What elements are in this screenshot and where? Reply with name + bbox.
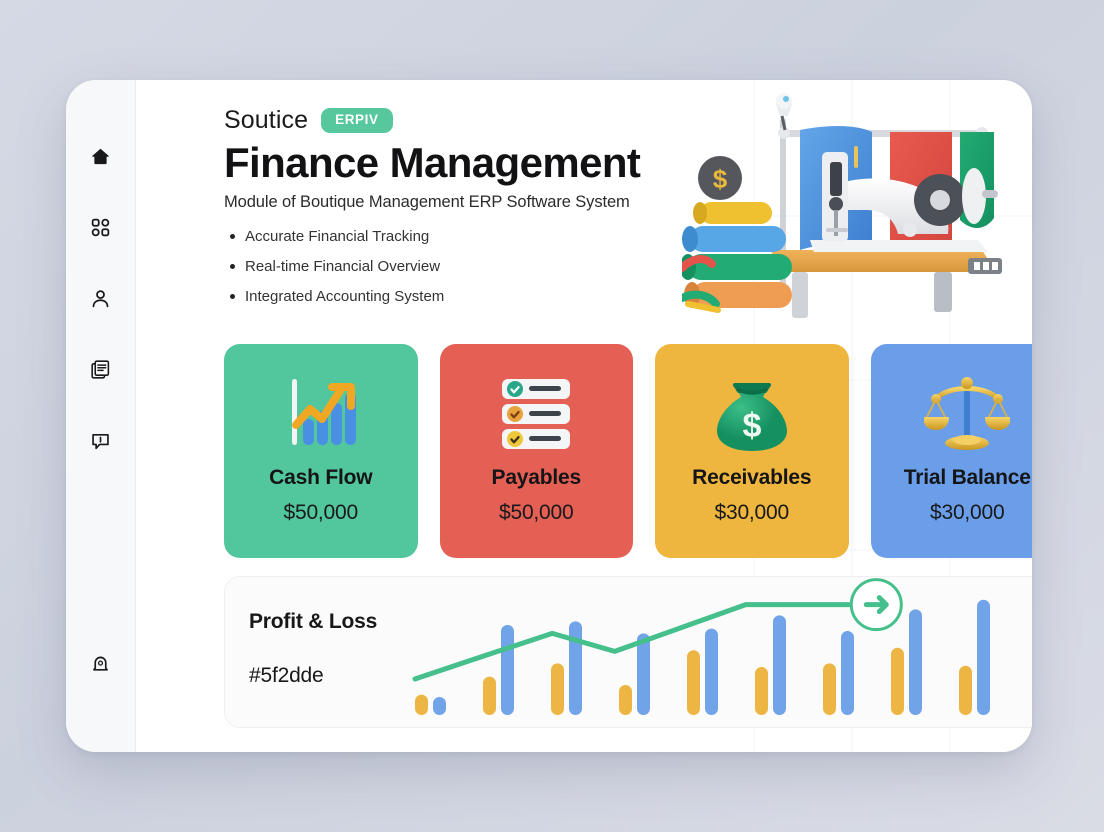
sidebar	[66, 80, 136, 752]
chart-bar-profit-7	[841, 631, 854, 715]
stat-card-value: $50,000	[499, 501, 574, 525]
stat-card-value: $30,000	[930, 501, 1005, 525]
chart-bar-profit-5	[705, 629, 718, 715]
chart-bar-profit-3	[569, 621, 582, 715]
chart-bar-loss-2	[483, 677, 496, 715]
chart-bar-loss-6	[755, 667, 768, 715]
bell-icon	[90, 653, 111, 674]
sidebar-item-profile[interactable]	[81, 278, 121, 318]
balance-scale-icon	[924, 368, 1010, 460]
stat-card-value: $30,000	[714, 501, 789, 525]
brand-row: Soutice ERPIV	[224, 106, 744, 135]
money-bag-icon: $	[713, 368, 791, 460]
stat-card-label: Receivables	[692, 466, 811, 490]
chart-bar-profit-6	[773, 615, 786, 715]
chart-bar-loss-9	[959, 666, 972, 715]
stat-card-value: $50,000	[283, 501, 358, 525]
sidebar-item-documents[interactable]	[81, 349, 121, 389]
profit-loss-chart	[401, 577, 1032, 728]
stat-card-grid: Cash Flow $50,000	[224, 344, 1032, 558]
brand-badge: ERPIV	[321, 108, 393, 133]
app-window: Soutice ERPIV Finance Management Module …	[66, 80, 1032, 752]
chart-bar-profit-1	[433, 697, 446, 715]
chart-bar-loss-3	[551, 663, 564, 715]
chart-bar-profit-4	[637, 633, 650, 715]
chart-bar-loss-1	[415, 695, 428, 715]
chart-bar-loss-4	[619, 685, 632, 715]
profit-loss-panel: Profit & Loss #5f2dde	[224, 576, 1032, 728]
stat-card-payables[interactable]: Payables $50,000	[440, 344, 634, 558]
apps-grid-icon	[90, 217, 111, 238]
main-content: Soutice ERPIV Finance Management Module …	[136, 80, 1032, 752]
sidebar-item-apps[interactable]	[81, 207, 121, 247]
growth-chart-icon	[281, 368, 361, 460]
feature-list: Accurate Financial Tracking Real-time Fi…	[224, 229, 744, 304]
chart-bar-profit-9	[977, 600, 990, 715]
sidebar-item-notifications[interactable]	[81, 643, 121, 683]
home-icon	[90, 146, 111, 167]
chart-bar-loss-5	[687, 650, 700, 715]
user-icon	[90, 288, 111, 309]
sidebar-item-home[interactable]	[81, 136, 121, 176]
stat-card-label: Trial Balance	[904, 466, 1031, 490]
page-header: Soutice ERPIV Finance Management Module …	[224, 106, 744, 319]
sidebar-item-messages[interactable]	[81, 420, 121, 460]
arrow-right-circle-icon[interactable]	[851, 580, 901, 630]
documents-icon	[90, 359, 111, 380]
page-subtitle: Module of Boutique Management ERP Softwa…	[224, 193, 744, 212]
page-title: Finance Management	[224, 139, 744, 186]
svg-text:$: $	[742, 407, 761, 445]
chart-bar-loss-7	[823, 663, 836, 715]
feature-item: Integrated Accounting System	[224, 289, 744, 304]
stat-card-trial-balance[interactable]: Trial Balance $30,000	[871, 344, 1033, 558]
chat-icon	[90, 430, 111, 451]
brand-name: Soutice	[224, 106, 308, 135]
chart-code: #5f2dde	[249, 664, 324, 688]
stat-card-receivables[interactable]: $ Receivables $30,000	[655, 344, 849, 558]
chart-bar-profit-8	[909, 609, 922, 715]
feature-item: Accurate Financial Tracking	[224, 229, 744, 244]
stat-card-label: Payables	[492, 466, 581, 490]
chart-bar-profit-2	[501, 625, 514, 715]
chart-bar-loss-8	[891, 648, 904, 715]
feature-item: Real-time Financial Overview	[224, 259, 744, 274]
chart-title: Profit & Loss	[249, 610, 377, 634]
checklist-icon	[494, 368, 578, 460]
stat-card-label: Cash Flow	[269, 466, 372, 490]
stat-card-cash-flow[interactable]: Cash Flow $50,000	[224, 344, 418, 558]
